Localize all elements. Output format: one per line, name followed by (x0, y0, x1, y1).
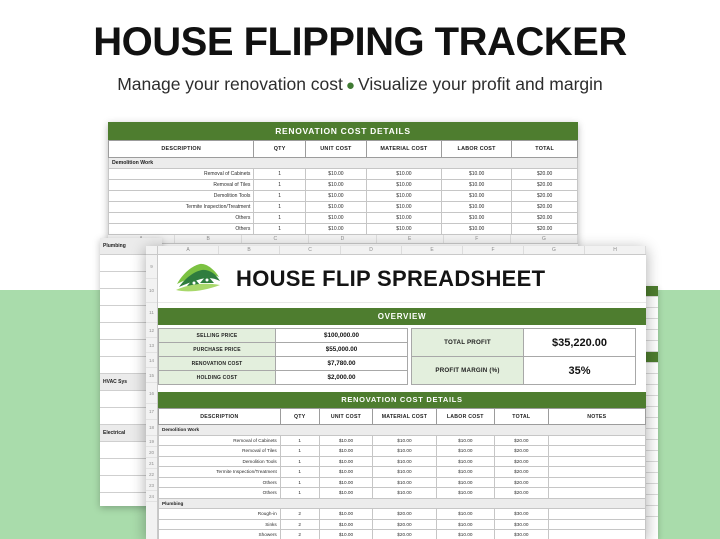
cell-unit-cost: $10.00 (305, 191, 366, 202)
group-label: Demolition Work (109, 158, 578, 169)
cell-description: Removal of Tiles (109, 180, 254, 191)
row-number[interactable]: 12 (146, 323, 157, 338)
top-background-spreadsheet[interactable]: RENOVATION COST DETAILS DESCRIPTION QTY … (108, 122, 578, 250)
cell-material-cost[interactable]: $10.00 (373, 477, 436, 488)
cell-qty[interactable]: 1 (280, 435, 319, 446)
main-column-letters-row[interactable]: A B C D E F G H (158, 246, 646, 255)
top-column-letters-row[interactable]: A B C D E F G (108, 235, 578, 244)
top-renovation-banner: RENOVATION COST DETAILS (108, 122, 578, 140)
cell-notes[interactable] (548, 467, 645, 478)
cell-material-cost: $10.00 (366, 202, 441, 213)
col-unit-cost: UNIT COST (319, 409, 373, 425)
cell-qty: 1 (254, 202, 306, 213)
group-label-plumbing: Plumbing (159, 498, 646, 509)
cell-total: $20.00 (512, 213, 578, 224)
cell-total: $30.00 (495, 530, 549, 539)
main-sheet-body: HOUSE FLIP SPREADSHEET OVERVIEW SELLING … (158, 255, 646, 539)
cell-total: $20.00 (512, 202, 578, 213)
cell-total: $20.00 (495, 456, 549, 467)
table-row[interactable]: Demolition Tools 1 $10.00 $10.00 $10.00 … (109, 191, 578, 202)
main-table-header-row: DESCRIPTION QTY UNIT COST MATERIAL COST … (159, 409, 646, 425)
cell-description[interactable]: Removal of Tiles (159, 446, 281, 457)
overview-row[interactable]: PURCHASE PRICE $55,000.00 (159, 343, 408, 357)
spreadsheet-title: HOUSE FLIP SPREADSHEET (236, 266, 545, 292)
col-labor-cost: LABOR COST (441, 141, 511, 158)
house-flip-logo-icon (174, 262, 222, 296)
row-number-gutter[interactable]: 9 10 11 12 13 14 15 16 17 18 19 20 21 22… (146, 246, 158, 539)
cell-qty[interactable]: 2 (280, 509, 319, 520)
cell-qty[interactable]: 2 (280, 530, 319, 539)
cell-labor-cost[interactable]: $10.00 (436, 446, 494, 457)
cell-description[interactable]: Sinks (159, 519, 281, 530)
cell-total: $20.00 (495, 435, 549, 446)
cell-labor-cost[interactable]: $10.00 (436, 530, 494, 539)
column-letter-c[interactable]: C (280, 246, 341, 254)
cell-notes[interactable] (548, 488, 645, 499)
overview-banner: OVERVIEW (158, 308, 646, 325)
cell-description[interactable]: Others (159, 477, 281, 488)
cell-labor-cost: $10.00 (441, 213, 511, 224)
cell-description[interactable]: Others (159, 488, 281, 499)
cell-unit-cost[interactable]: $10.00 (319, 456, 373, 467)
cell-unit-cost: $10.00 (305, 202, 366, 213)
main-renovation-banner: RENOVATION COST DETAILS (158, 392, 646, 408)
cell-total: $20.00 (512, 169, 578, 180)
row-number[interactable]: 18 (146, 420, 157, 436)
cell-description: Others (109, 224, 254, 235)
cell-description[interactable]: Termite Inspection/Treatment (159, 467, 281, 478)
cell-labor-cost[interactable]: $10.00 (436, 435, 494, 446)
cell-material-cost: $10.00 (366, 191, 441, 202)
row-number[interactable]: 15 (146, 368, 157, 383)
cell-total: $20.00 (495, 477, 549, 488)
table-group-row: Demolition Work (109, 158, 578, 169)
cell-notes[interactable] (548, 519, 645, 530)
cell-unit-cost[interactable]: $10.00 (319, 435, 373, 446)
overview-right-table-wrap: TOTAL PROFIT $35,220.00 PROFIT MARGIN (%… (411, 328, 636, 385)
row-number[interactable]: 13 (146, 338, 157, 353)
cell-unit-cost[interactable]: $10.00 (319, 446, 373, 457)
table-row[interactable]: Removal of Cabinets 1 $10.00 $10.00 $10.… (109, 169, 578, 180)
column-letter-a[interactable]: A (158, 246, 219, 254)
cell-notes[interactable] (548, 509, 645, 520)
overview-value-purchase-price[interactable]: $55,000.00 (276, 343, 408, 357)
value-total-profit: $35,220.00 (524, 329, 636, 357)
row-number[interactable]: 11 (146, 303, 157, 323)
table-group-row: Demolition Work (159, 425, 646, 436)
row-number[interactable]: 9 (146, 255, 157, 279)
cell-qty[interactable]: 1 (280, 477, 319, 488)
cell-total: $30.00 (495, 519, 549, 530)
cell-total: $20.00 (512, 180, 578, 191)
cell-notes[interactable] (548, 477, 645, 488)
overview-value-renovation-cost[interactable]: $7,780.00 (276, 357, 408, 371)
cell-labor-cost[interactable]: $10.00 (436, 477, 494, 488)
cell-total: $20.00 (495, 467, 549, 478)
row-number[interactable]: 24 (146, 491, 157, 502)
screenshot-root: HOUSE FLIPPING TRACKER Manage your renov… (0, 0, 720, 539)
page-subtitle: Manage your renovation cost●Visualize yo… (0, 74, 720, 95)
cell-description: Termite Inspection/Treatment (109, 202, 254, 213)
column-letter-h[interactable]: H (585, 246, 646, 254)
col-total: TOTAL (512, 141, 578, 158)
table-row[interactable]: Removal of Tiles 1 $10.00 $10.00 $10.00 … (109, 180, 578, 191)
cell-description[interactable]: Rough-in (159, 509, 281, 520)
table-row[interactable]: Others 1 $10.00 $10.00 $10.00 $20.00 (109, 213, 578, 224)
table-row[interactable]: Demolition Tools 1 $10.00 $10.00 $10.00 … (159, 456, 646, 467)
cell-unit-cost: $10.00 (305, 224, 366, 235)
row-number[interactable]: 10 (146, 279, 157, 303)
cell-labor-cost[interactable]: $10.00 (436, 519, 494, 530)
cell-description[interactable]: Removal of Cabinets (159, 435, 281, 446)
cell-unit-cost[interactable]: $10.00 (319, 519, 373, 530)
overview-value-selling-price[interactable]: $100,000.00 (276, 329, 408, 343)
main-spreadsheet[interactable]: 9 10 11 12 13 14 15 16 17 18 19 20 21 22… (146, 246, 646, 539)
table-row[interactable]: Others 1 $10.00 $10.00 $10.00 $20.00 (109, 224, 578, 235)
cell-qty[interactable]: 1 (280, 467, 319, 478)
main-renovation-table: DESCRIPTION QTY UNIT COST MATERIAL COST … (158, 408, 646, 539)
overview-label-renovation-cost: RENOVATION COST (159, 357, 276, 371)
row-number[interactable]: 20 (146, 447, 157, 458)
top-renovation-table: DESCRIPTION QTY UNIT COST MATERIAL COST … (108, 140, 578, 235)
overview-section: SELLING PRICE $100,000.00 PURCHASE PRICE… (158, 328, 646, 385)
cell-labor-cost: $10.00 (441, 169, 511, 180)
overview-label-holding-cost: HOLDING COST (159, 371, 276, 385)
cell-material-cost: $10.00 (366, 169, 441, 180)
column-letter-e[interactable]: E (377, 235, 444, 243)
group-label-demolition: Demolition Work (159, 425, 646, 436)
overview-left-table-wrap: SELLING PRICE $100,000.00 PURCHASE PRICE… (158, 328, 408, 385)
table-row[interactable]: Sinks 2 $10.00 $20.00 $10.00 $30.00 (159, 519, 646, 530)
cell-labor-cost: $10.00 (441, 180, 511, 191)
cell-total: $20.00 (512, 191, 578, 202)
table-row[interactable]: Showers 2 $10.00 $20.00 $10.00 $30.00 (159, 530, 646, 539)
cell-total: $20.00 (495, 488, 549, 499)
table-row[interactable]: Others 1 $10.00 $10.00 $10.00 $20.00 (159, 477, 646, 488)
column-letter-b[interactable]: B (219, 246, 280, 254)
col-total: TOTAL (495, 409, 549, 425)
overview-row: TOTAL PROFIT $35,220.00 (412, 329, 636, 357)
cell-total: $20.00 (495, 446, 549, 457)
row-number[interactable]: 14 (146, 353, 157, 368)
cell-description: Demolition Tools (109, 191, 254, 202)
overview-row: PROFIT MARGIN (%) 35% (412, 357, 636, 385)
cell-unit-cost[interactable]: $10.00 (319, 530, 373, 539)
row-number[interactable]: 23 (146, 480, 157, 491)
cell-qty: 1 (254, 169, 306, 180)
col-material-cost: MATERIAL COST (373, 409, 436, 425)
bullet-separator-icon: ● (343, 77, 358, 94)
column-letter-f[interactable]: F (463, 246, 524, 254)
table-row[interactable]: Removal of Tiles 1 $10.00 $10.00 $10.00 … (159, 446, 646, 457)
cell-qty[interactable]: 2 (280, 519, 319, 530)
subtitle-right-text: Visualize your profit and margin (358, 74, 603, 94)
cell-material-cost[interactable]: $20.00 (373, 509, 436, 520)
row-number[interactable]: 19 (146, 436, 157, 447)
cell-unit-cost[interactable]: $10.00 (319, 509, 373, 520)
cell-material-cost[interactable]: $10.00 (373, 456, 436, 467)
column-letter-g[interactable]: G (511, 235, 578, 243)
col-description: DESCRIPTION (109, 141, 254, 158)
cell-material-cost: $10.00 (366, 224, 441, 235)
col-qty: QTY (280, 409, 319, 425)
cell-material-cost[interactable]: $20.00 (373, 519, 436, 530)
cell-unit-cost: $10.00 (305, 169, 366, 180)
cell-notes[interactable] (548, 456, 645, 467)
cell-labor-cost: $10.00 (441, 224, 511, 235)
cell-unit-cost[interactable]: $10.00 (319, 467, 373, 478)
cell-total: $20.00 (512, 224, 578, 235)
table-row[interactable]: Others 1 $10.00 $10.00 $10.00 $20.00 (159, 488, 646, 499)
cell-qty[interactable]: 1 (280, 446, 319, 457)
brand-header: HOUSE FLIP SPREADSHEET (158, 255, 646, 303)
label-profit-margin: PROFIT MARGIN (%) (412, 357, 524, 385)
col-description: DESCRIPTION (159, 409, 281, 425)
cell-labor-cost[interactable]: $10.00 (436, 488, 494, 499)
cell-qty[interactable]: 1 (280, 488, 319, 499)
col-notes: NOTES (548, 409, 645, 425)
value-profit-margin: 35% (524, 357, 636, 385)
cell-material-cost[interactable]: $10.00 (373, 435, 436, 446)
row-number[interactable]: 21 (146, 458, 157, 469)
cell-notes[interactable] (548, 446, 645, 457)
subtitle-left-text: Manage your renovation cost (117, 74, 343, 94)
cell-description[interactable]: Demolition Tools (159, 456, 281, 467)
cell-qty: 1 (254, 180, 306, 191)
column-letter-d[interactable]: D (341, 246, 402, 254)
col-qty: QTY (254, 141, 306, 158)
cell-unit-cost: $10.00 (305, 180, 366, 191)
top-table-header-row: DESCRIPTION QTY UNIT COST MATERIAL COST … (109, 141, 578, 158)
overview-results-table: TOTAL PROFIT $35,220.00 PROFIT MARGIN (%… (411, 328, 636, 385)
overview-label-purchase-price: PURCHASE PRICE (159, 343, 276, 357)
overview-label-selling-price: SELLING PRICE (159, 329, 276, 343)
cell-unit-cost[interactable]: $10.00 (319, 477, 373, 488)
cell-notes[interactable] (548, 530, 645, 539)
column-letter-d[interactable]: D (309, 235, 376, 243)
cell-description[interactable]: Showers (159, 530, 281, 539)
column-letter-c[interactable]: C (242, 235, 309, 243)
table-row[interactable]: Termite Inspection/Treatment 1 $10.00 $1… (159, 467, 646, 478)
cell-material-cost: $10.00 (366, 180, 441, 191)
col-unit-cost: UNIT COST (305, 141, 366, 158)
table-group-row: Plumbing (159, 498, 646, 509)
overview-row[interactable]: RENOVATION COST $7,780.00 (159, 357, 408, 371)
cell-description: Others (109, 213, 254, 224)
cell-labor-cost[interactable]: $10.00 (436, 509, 494, 520)
overview-row[interactable]: HOLDING COST $2,000.00 (159, 371, 408, 385)
row-number[interactable]: 22 (146, 469, 157, 480)
table-row[interactable]: Termite Inspection/Treatment 1 $10.00 $1… (109, 202, 578, 213)
col-labor-cost: LABOR COST (436, 409, 494, 425)
table-row[interactable]: Removal of Cabinets 1 $10.00 $10.00 $10.… (159, 435, 646, 446)
cell-labor-cost: $10.00 (441, 202, 511, 213)
row-number[interactable]: 17 (146, 404, 157, 420)
overview-value-holding-cost[interactable]: $2,000.00 (276, 371, 408, 385)
row-number[interactable]: 16 (146, 383, 157, 404)
cell-total: $30.00 (495, 509, 549, 520)
cell-labor-cost[interactable]: $10.00 (436, 456, 494, 467)
hero-header: HOUSE FLIPPING TRACKER Manage your renov… (0, 0, 720, 110)
cell-qty[interactable]: 1 (280, 456, 319, 467)
col-material-cost: MATERIAL COST (366, 141, 441, 158)
page-title: HOUSE FLIPPING TRACKER (0, 20, 720, 65)
cell-notes[interactable] (548, 435, 645, 446)
column-letter-b[interactable]: B (175, 235, 242, 243)
cell-labor-cost: $10.00 (441, 191, 511, 202)
cell-material-cost[interactable]: $10.00 (373, 467, 436, 478)
cell-material-cost[interactable]: $10.00 (373, 446, 436, 457)
cell-material-cost[interactable]: $10.00 (373, 488, 436, 499)
column-letter-e[interactable]: E (402, 246, 463, 254)
cell-qty: 1 (254, 191, 306, 202)
cell-labor-cost[interactable]: $10.00 (436, 467, 494, 478)
label-total-profit: TOTAL PROFIT (412, 329, 524, 357)
overview-row[interactable]: SELLING PRICE $100,000.00 (159, 329, 408, 343)
cell-unit-cost[interactable]: $10.00 (319, 488, 373, 499)
cell-material-cost: $10.00 (366, 213, 441, 224)
overview-inputs-table: SELLING PRICE $100,000.00 PURCHASE PRICE… (158, 328, 408, 385)
cell-unit-cost: $10.00 (305, 213, 366, 224)
column-letter-f[interactable]: F (444, 235, 511, 243)
column-letter-g[interactable]: G (524, 246, 585, 254)
cell-qty: 1 (254, 224, 306, 235)
cell-description: Removal of Cabinets (109, 169, 254, 180)
cell-qty: 1 (254, 213, 306, 224)
cell-material-cost[interactable]: $20.00 (373, 530, 436, 539)
table-row[interactable]: Rough-in 2 $10.00 $20.00 $10.00 $30.00 (159, 509, 646, 520)
